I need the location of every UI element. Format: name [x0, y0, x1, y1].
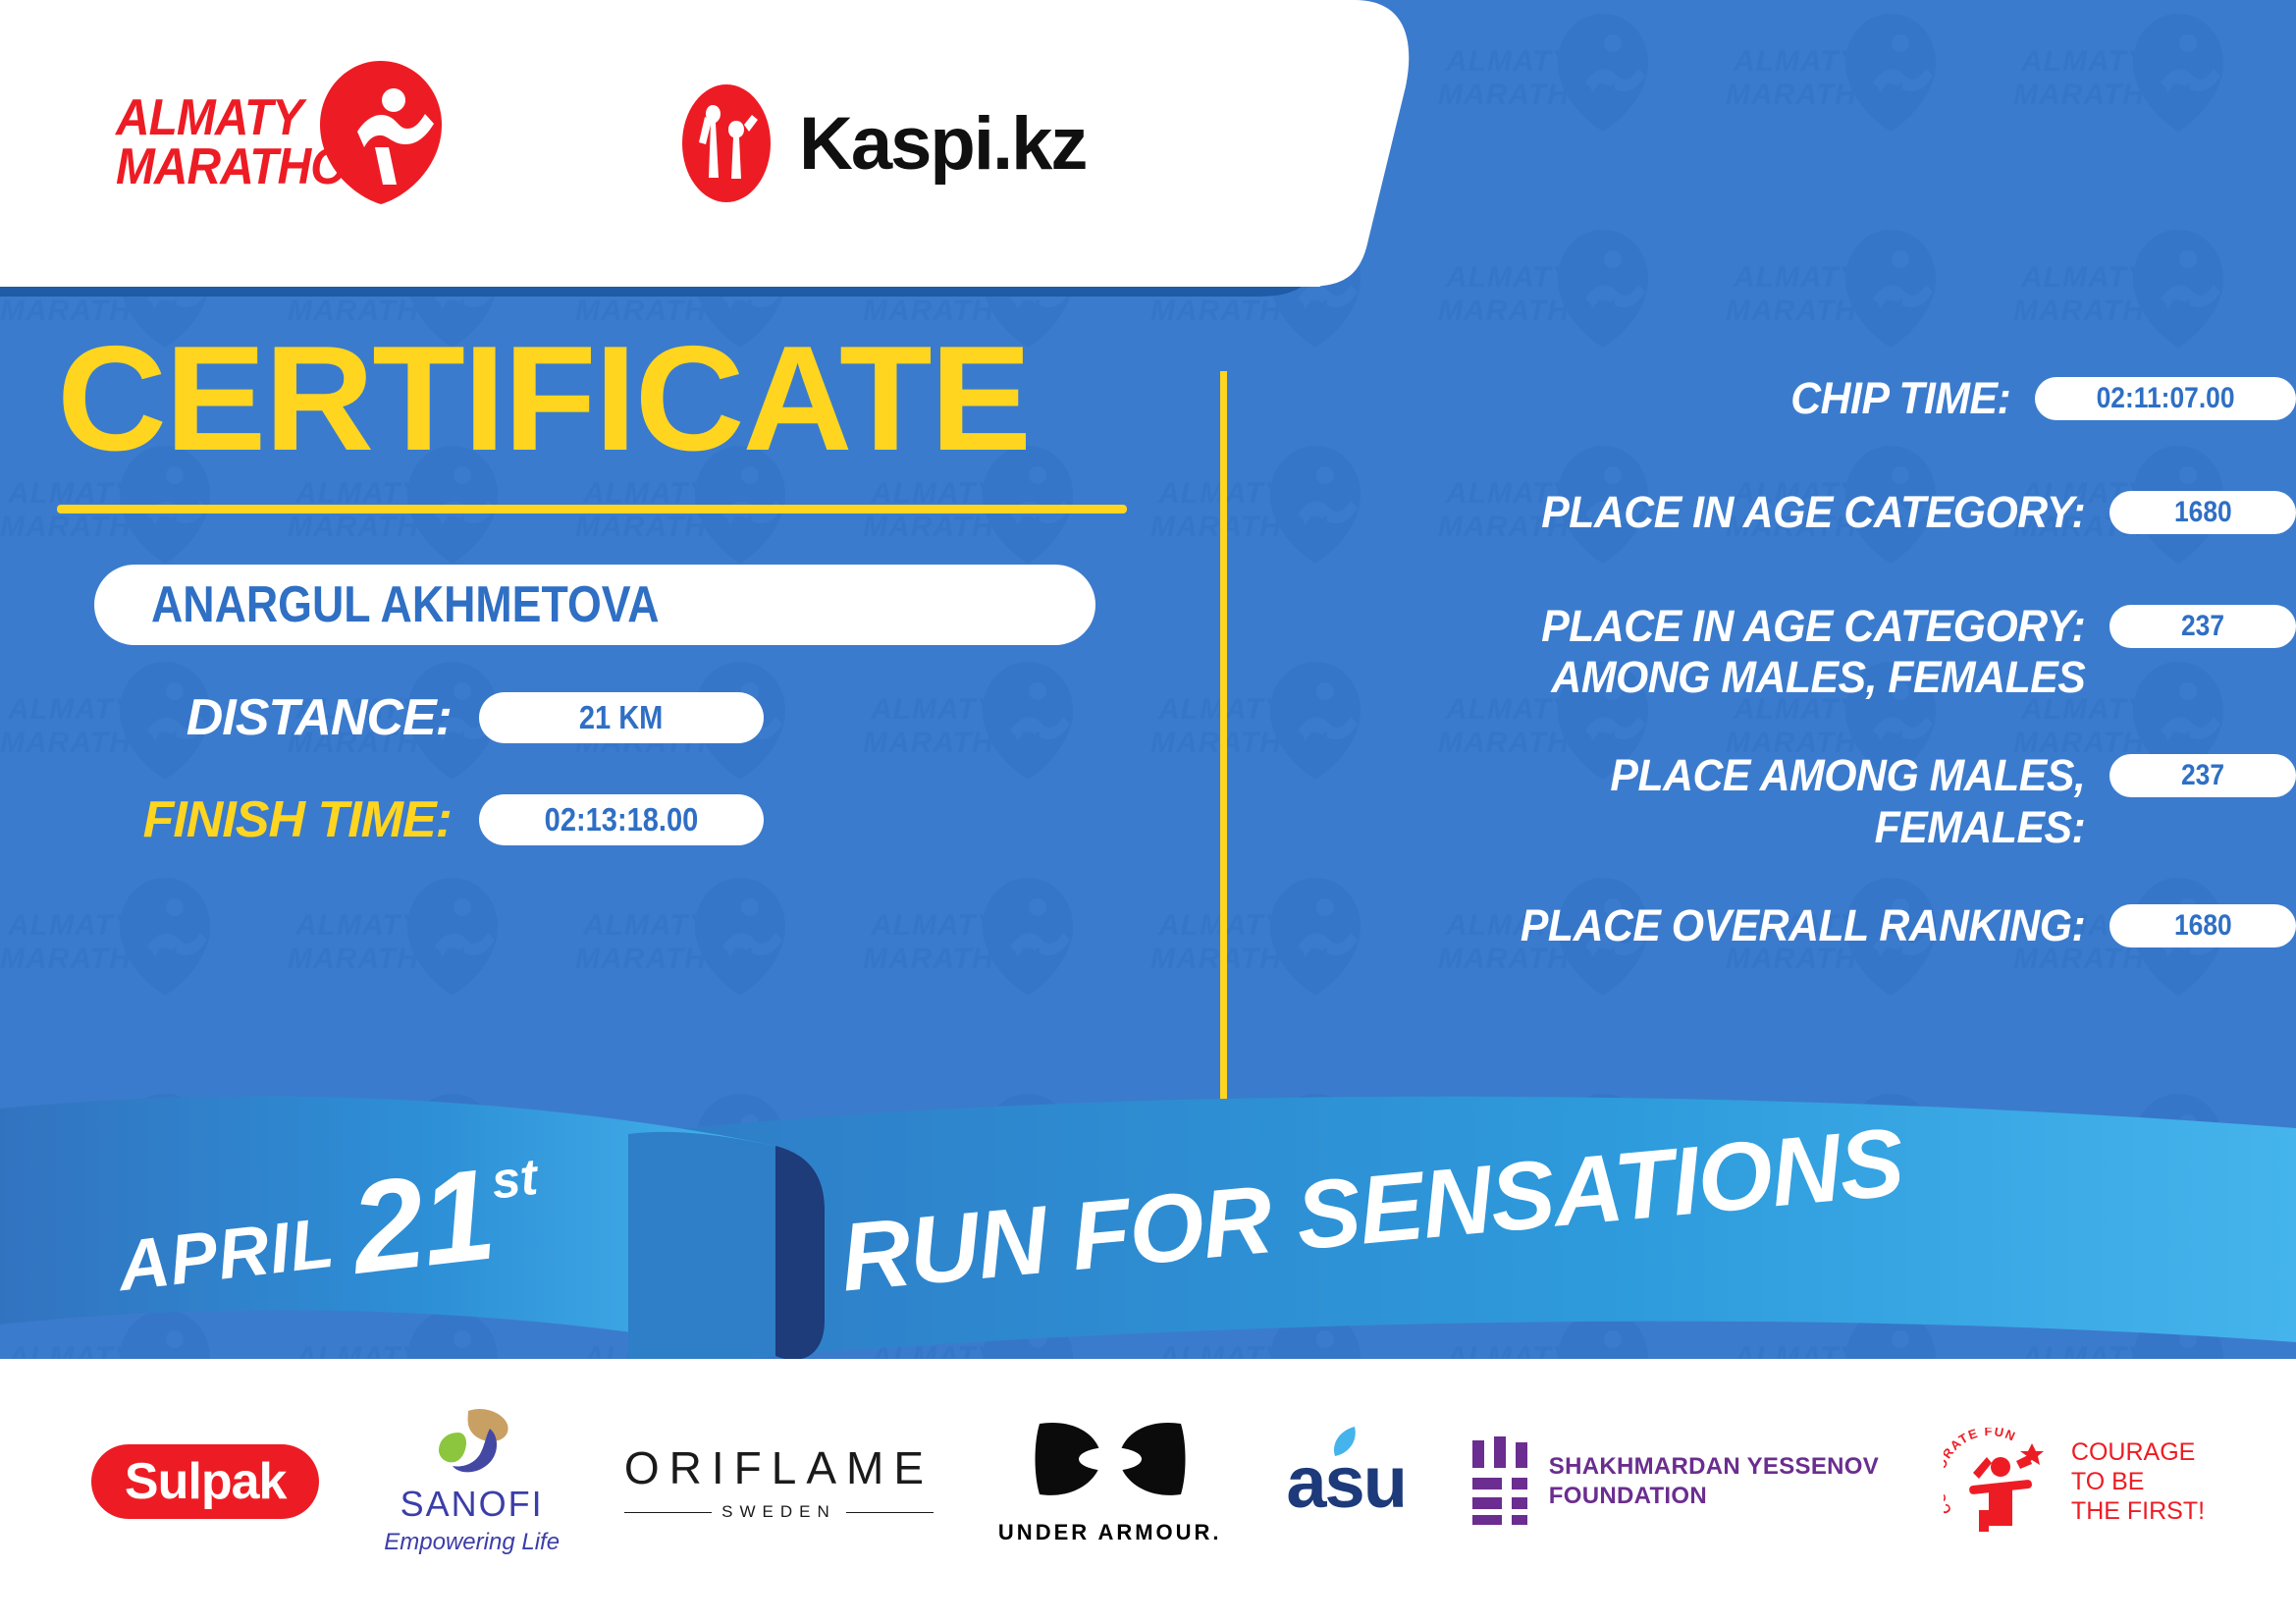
oriflame-country: SWEDEN: [721, 1502, 836, 1522]
distance-value-pill: 21 KM: [479, 692, 764, 743]
courage-line1: COURAGE: [2071, 1437, 2205, 1467]
under-armour-wordmark: UNDER ARMOUR.: [998, 1520, 1222, 1545]
stat-value-pill: 1680: [2109, 904, 2296, 947]
page-title: CERTIFICATE: [57, 324, 1230, 473]
certificate-canvas: ALMATY MARATHON ALMATYMARATHON: [0, 0, 2296, 1624]
almaty-marathon-logo: ALMATYMARATHON: [116, 65, 440, 222]
sponsor-yessenov-foundation: SHAKHMARDAN YESSENOV FOUNDATION: [1470, 1436, 1879, 1527]
certificate-stats-column: CHIP TIME: 02:11:07.00 PLACE IN AGE CATE…: [1256, 373, 2296, 1014]
stat-value: 1680: [2174, 496, 2232, 529]
event-day-suffix: st: [489, 1148, 541, 1212]
courage-line3: THE FIRST!: [2071, 1496, 2205, 1526]
stat-value-pill: 237: [2109, 605, 2296, 648]
under-armour-icon: [1032, 1418, 1189, 1514]
sanofi-mark-icon: [425, 1407, 519, 1480]
stat-value: 237: [2181, 759, 2224, 792]
stat-row-place-overall: PLACE OVERALL RANKING: 1680: [1256, 900, 2296, 967]
sponsor-asu: asu: [1286, 1440, 1406, 1524]
stat-label: CHIP TIME:: [1296, 373, 2035, 424]
stat-value-pill: 237: [2109, 754, 2296, 797]
runner-drop-icon: [314, 57, 448, 204]
stat-label: PLACE OVERALL RANKING:: [1299, 900, 2109, 951]
oriflame-rule-right: [846, 1512, 934, 1513]
kaspi-wordmark: Kaspi.kz: [799, 101, 1086, 187]
sponsor-sanofi: SANOFI Empowering Life: [384, 1407, 560, 1556]
sponsor-under-armour: UNDER ARMOUR.: [998, 1418, 1222, 1545]
stat-label: PLACE IN AGE CATEGORY:AMONG MALES, FEMAL…: [1299, 601, 2109, 703]
finish-time-value-pill: 02:13:18.00: [479, 794, 764, 845]
sponsor-strip: Sulpak SANOFI Empowering Life ORIFLAME S…: [0, 1359, 2296, 1624]
oriflame-rule-left: [624, 1512, 712, 1513]
event-day: 21: [346, 1157, 498, 1288]
certificate-left-column: CERTIFICATE ANARGUL AKHMETOVA DISTANCE: …: [0, 324, 1207, 849]
sulpak-logo: Sulpak: [91, 1444, 320, 1519]
header-logos: ALMATYMARATHON Kaspi.kz: [0, 0, 1158, 287]
courage-wordmark: COURAGE TO BE THE FIRST!: [2071, 1437, 2205, 1526]
stat-label: PLACE AMONG MALES,FEMALES:: [1299, 750, 2109, 852]
kaspi-logo: Kaspi.kz: [675, 81, 1086, 205]
yessenov-wordmark: SHAKHMARDAN YESSENOV FOUNDATION: [1549, 1452, 1879, 1511]
oriflame-sub-row: SWEDEN: [624, 1502, 934, 1522]
stat-value-pill: 02:11:07.00: [2035, 377, 2296, 420]
sponsor-oriflame: ORIFLAME SWEDEN: [624, 1441, 934, 1522]
distance-row: DISTANCE: 21 KM: [94, 688, 1207, 747]
yessenov-line1: SHAKHMARDAN YESSENOV: [1549, 1452, 1879, 1482]
kaspi-person-icon: [675, 81, 777, 205]
stat-value: 02:11:07.00: [2097, 382, 2235, 415]
sanofi-wordmark: SANOFI: [400, 1484, 544, 1525]
participant-name-field: ANARGUL AKHMETOVA: [94, 565, 1095, 645]
stat-value-pill: 1680: [2109, 491, 2296, 534]
sponsor-sulpak: Sulpak: [91, 1444, 320, 1519]
stat-row-place-among-gender: PLACE AMONG MALES,FEMALES: 237: [1256, 750, 2296, 852]
participant-name-value: ANARGUL AKHMETOVA: [151, 575, 660, 634]
stat-label: PLACE IN AGE CATEGORY:: [1299, 487, 2109, 538]
finish-time-label: FINISH TIME:: [94, 790, 479, 849]
sanofi-tagline: Empowering Life: [384, 1529, 560, 1556]
finish-time-row: FINISH TIME: 02:13:18.00: [94, 790, 1207, 849]
event-month: APRIL: [114, 1203, 339, 1307]
stat-row-chip-time: CHIP TIME: 02:11:07.00: [1256, 373, 2296, 440]
stat-row-place-age-category-gender: PLACE IN AGE CATEGORY:AMONG MALES, FEMAL…: [1256, 601, 2296, 703]
stat-row-place-age-category: PLACE IN AGE CATEGORY: 1680: [1256, 487, 2296, 554]
title-underline: [57, 505, 1127, 514]
oriflame-wordmark: ORIFLAME: [624, 1441, 934, 1494]
courage-line2: TO BE: [2071, 1467, 2205, 1496]
finish-time-value: 02:13:18.00: [545, 801, 699, 839]
stat-value: 1680: [2174, 909, 2232, 943]
distance-value: 21 KM: [579, 699, 664, 736]
courage-runner-icon: CORPORATE FUND: [1944, 1428, 2057, 1536]
sponsor-corporate-fund-courage: CORPORATE FUND COURAGE TO BE THE FIRST!: [1944, 1428, 2205, 1536]
yessenov-bars-icon: [1470, 1436, 1531, 1527]
asu-leaf-icon: [1329, 1425, 1361, 1458]
stat-value: 237: [2181, 610, 2224, 643]
column-divider: [1220, 371, 1227, 1108]
yessenov-line2: FOUNDATION: [1549, 1482, 1879, 1511]
distance-label: DISTANCE:: [94, 688, 479, 747]
